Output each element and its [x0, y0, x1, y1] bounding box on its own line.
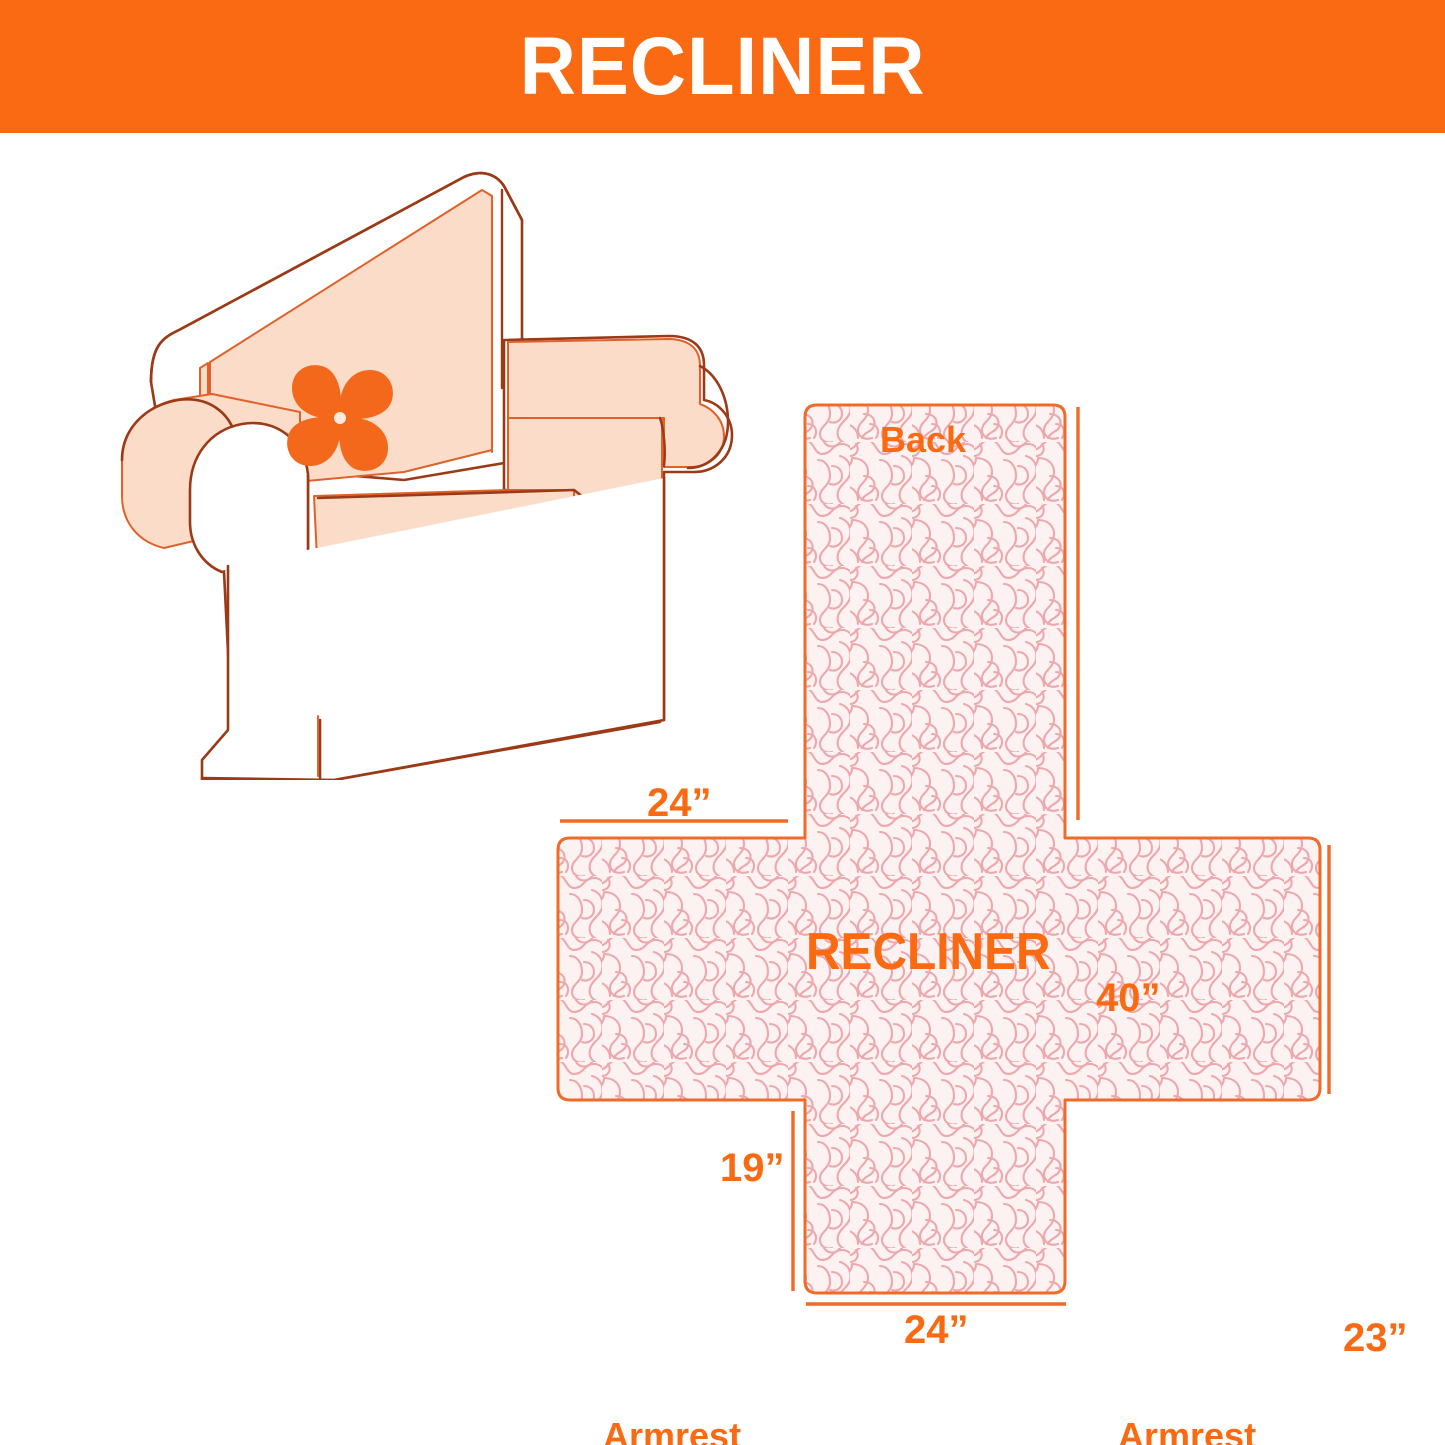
panel-label-back: Back — [880, 422, 966, 458]
dimension-label-front-height: 19” — [720, 1148, 785, 1188]
dimension-label-armrest-height: 23” — [1343, 1318, 1408, 1358]
pattern-svg — [540, 380, 1445, 1360]
dimension-label-armrest-width: 24” — [647, 783, 712, 823]
page-title: RECLINER — [520, 26, 926, 108]
dimension-label-back-height: 40” — [1096, 978, 1161, 1018]
panel-label-armrest-right: Armrest — [1118, 1418, 1256, 1445]
panel-label-armrest-left: Armrest — [603, 1418, 741, 1445]
cover-flat-layout-diagram: Back RECLINER Armrest Armrest Front 40” … — [540, 380, 1445, 1360]
dimension-label-front-width: 24” — [904, 1310, 969, 1350]
header-bar: RECLINER — [0, 0, 1445, 133]
panel-label-center: RECLINER — [806, 926, 1051, 978]
cover-cross-shape — [558, 405, 1320, 1293]
cover-cross-fill — [558, 405, 1320, 1293]
product-size-diagram: RECLINER — [0, 0, 1445, 1445]
